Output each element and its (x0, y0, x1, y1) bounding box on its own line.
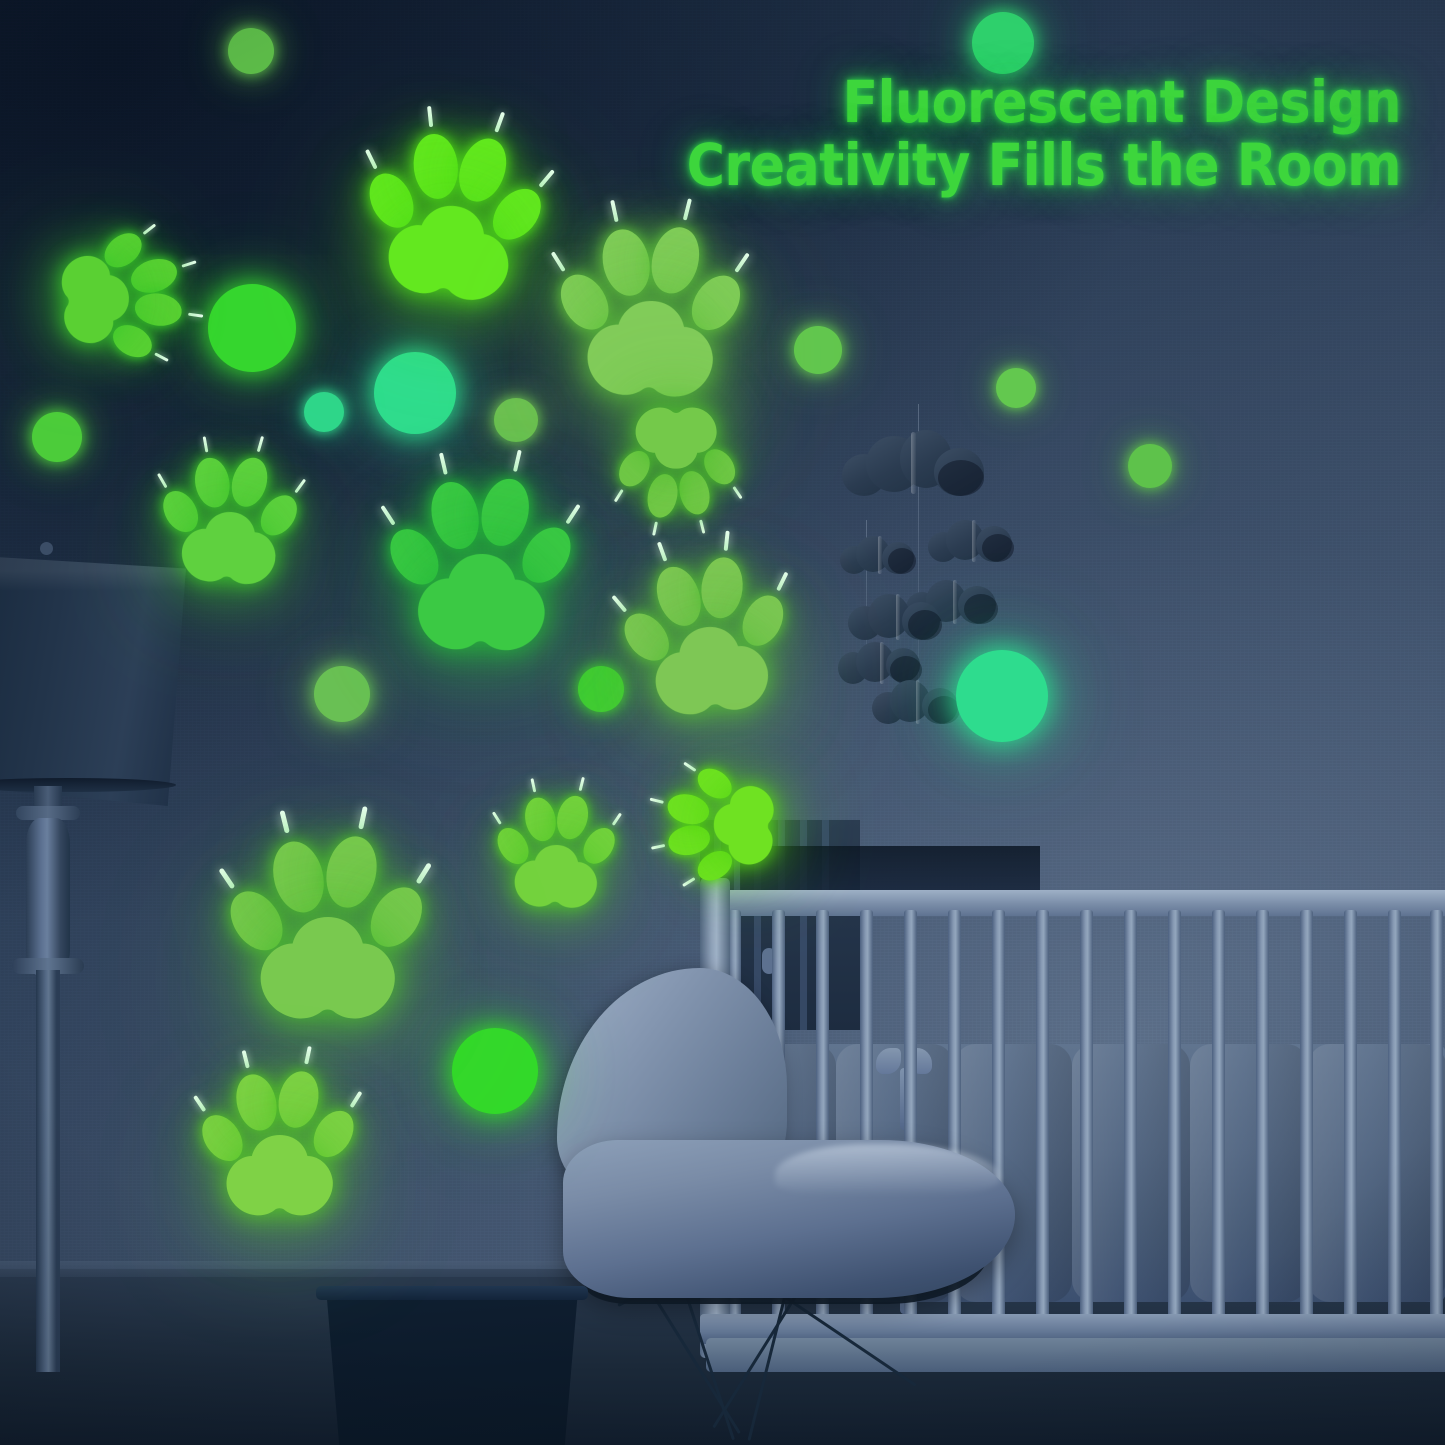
paw-claw (610, 200, 619, 222)
paw-claw (380, 505, 396, 526)
paw-claw (565, 504, 581, 525)
paw-claw (494, 112, 505, 133)
paw-claw (439, 453, 448, 475)
paw-top-right-pale (549, 215, 754, 420)
paw-pad (179, 509, 279, 589)
paw-claw (304, 1046, 311, 1065)
paw-claw (578, 777, 584, 792)
dot-far-left (32, 412, 82, 462)
paw-pad-shape (514, 843, 599, 911)
paw-claw (652, 522, 658, 536)
paw-center-large (380, 468, 583, 671)
dot-center-lime (578, 666, 624, 712)
paw-pad (57, 253, 132, 346)
dot-left-lime (208, 284, 296, 372)
headline: Fluorescent Design Creativity Fills the … (687, 74, 1401, 194)
paw-pad (650, 621, 773, 721)
paw-claw (684, 762, 697, 772)
paw-claw (415, 862, 431, 884)
paw-bottom-small (196, 1064, 364, 1232)
paw-claw (427, 106, 433, 127)
paw-right-pale (610, 543, 806, 739)
paw-pad-shape (650, 621, 773, 721)
dot-top-teal (972, 12, 1034, 74)
paw-pad-shape (383, 198, 517, 309)
paw-toe (475, 474, 535, 551)
dot-bottom-bright (452, 1028, 538, 1114)
paw-bright-small-right (660, 760, 788, 888)
paw-pad-shape (179, 509, 279, 589)
paw-pad (383, 198, 517, 309)
paw-toe (320, 832, 383, 913)
paw-claw (218, 867, 235, 889)
paw-toe (425, 477, 485, 554)
paw-pad-shape (226, 1135, 334, 1219)
paw-pad-shape (57, 253, 132, 346)
paw-pad (417, 553, 547, 655)
paw-toe (699, 555, 746, 619)
paw-claw (614, 489, 624, 502)
paw-claw (365, 149, 378, 170)
dot-mid-pale (314, 666, 370, 722)
paw-claw (154, 352, 169, 362)
paw-toe (191, 455, 233, 510)
paw-mid-small (490, 788, 624, 922)
paw-claw (491, 812, 501, 826)
paw-claw (551, 251, 566, 272)
paw-pad (585, 299, 715, 402)
paw-toe (410, 132, 460, 201)
paw-toe (266, 836, 331, 918)
paw-toe (231, 1070, 282, 1135)
paw-claw (651, 844, 665, 849)
dot-top-left-small (228, 28, 274, 74)
paw-pad-shape (713, 784, 778, 865)
headline-line-1: Fluorescent Design (687, 74, 1401, 131)
paw-toe (553, 793, 593, 843)
paw-toe (226, 453, 273, 511)
paw-claw (280, 810, 290, 834)
paw-claw (349, 1091, 362, 1109)
paw-toe (596, 225, 655, 300)
paw-claw (734, 253, 750, 273)
paw-claw (530, 778, 536, 793)
paw-pad-shape (417, 553, 547, 655)
paw-claw (143, 223, 157, 235)
product-lifestyle-scene: Fluorescent Design Creativity Fills the … (0, 0, 1445, 1445)
paw-toe (643, 472, 681, 521)
paw-toe (664, 790, 712, 828)
paw-toe (127, 253, 181, 298)
paw-claw (650, 798, 664, 804)
paw-pad (713, 784, 778, 865)
paw-claw (203, 436, 209, 453)
paw-pad (226, 1135, 334, 1219)
paw-pad (514, 843, 599, 911)
paw-claw (699, 519, 705, 533)
paw-claw (193, 1095, 206, 1112)
paw-toe (133, 291, 184, 329)
paw-claw (724, 531, 730, 551)
paw-toe (521, 795, 559, 844)
paw-claw (612, 813, 622, 826)
paw-toe (674, 469, 713, 518)
dot-right-mid (996, 368, 1036, 408)
paw-claw (294, 479, 306, 494)
dot-mint-right (956, 650, 1048, 742)
paw-claw (732, 486, 742, 499)
paw-pad-shape (260, 917, 396, 1023)
paw-bottom-large (222, 828, 434, 1040)
paw-claw (683, 877, 696, 887)
dot-right-far (1128, 444, 1172, 488)
dot-pale-small (494, 398, 538, 442)
paw-claw (657, 542, 667, 562)
paw-toe (274, 1067, 324, 1131)
paw-inverted-small (612, 395, 740, 523)
dot-mint-small (304, 392, 344, 432)
paw-claw (683, 198, 692, 220)
paw-pad-shape (585, 299, 715, 402)
paw-claw (538, 169, 555, 188)
headline-line-2: Creativity Fills the Room (687, 137, 1401, 194)
paw-claw (181, 260, 196, 268)
paw-claw (776, 572, 788, 591)
paw-toe (645, 222, 705, 298)
paw-pad-shape (635, 405, 717, 469)
paw-upper-left (44, 224, 191, 371)
paw-claw (187, 312, 202, 317)
paw-claw (242, 1050, 250, 1069)
paw-toe (666, 822, 713, 859)
paw-mid-left (152, 445, 310, 603)
paw-claw (157, 472, 168, 488)
paw-claw (512, 450, 521, 472)
glow-decal-layer (0, 0, 1445, 1445)
paw-top-bright-large (347, 114, 562, 329)
paw-pad (260, 917, 396, 1023)
dot-right-upper (794, 326, 842, 374)
paw-claw (257, 436, 265, 453)
paw-toe (451, 132, 514, 208)
dot-mint-large (374, 352, 456, 434)
paw-pad (635, 405, 717, 469)
paw-claw (358, 806, 367, 830)
paw-claw (611, 595, 627, 613)
